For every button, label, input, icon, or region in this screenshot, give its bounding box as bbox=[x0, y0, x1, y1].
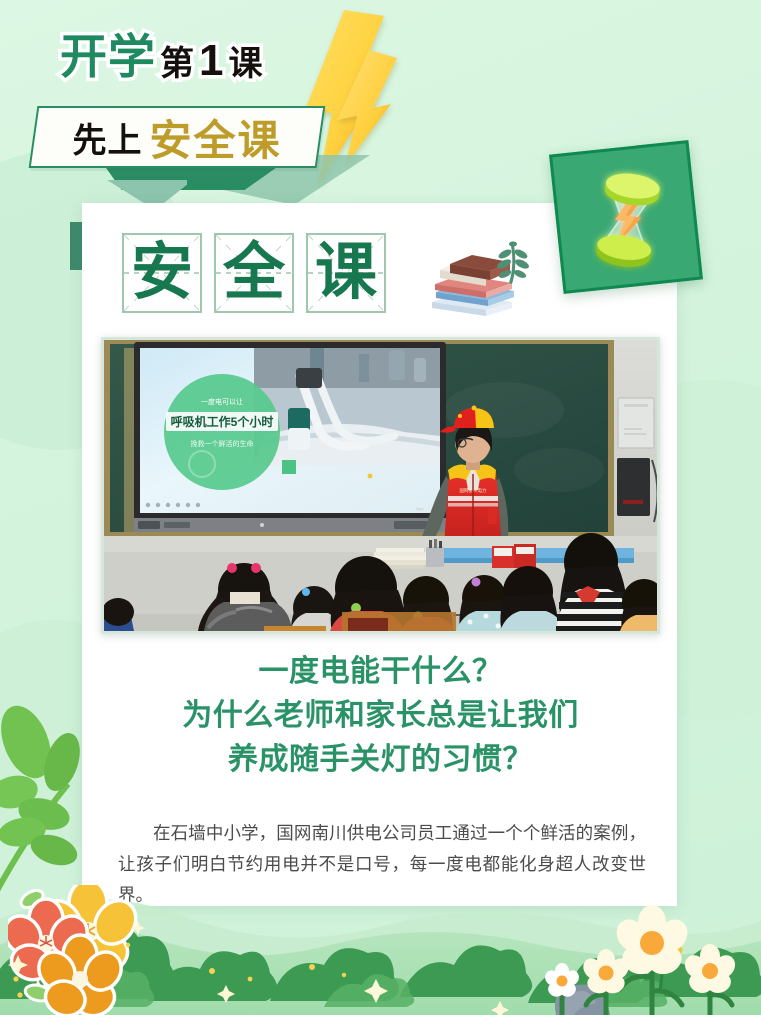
slide-line3: 挽救一个鲜活的生命 bbox=[191, 439, 254, 448]
classroom-photo: 一度电可以让 呼吸机工作5个小时 挽救一个鲜活的生命 logo bbox=[101, 337, 660, 634]
poster-root: 开学 第 1 课 先上 安全课 安 全 课 bbox=[0, 0, 761, 1015]
flower-cluster-decor bbox=[8, 885, 198, 1015]
tianzige-char: 课 bbox=[315, 242, 377, 304]
headline-line-1: 一度电能干什么？ bbox=[101, 650, 660, 694]
header-title-prefix: 第 bbox=[160, 47, 195, 81]
stack-of-books-icon bbox=[428, 240, 532, 320]
header-banner: 先上 安全课 bbox=[29, 106, 326, 168]
header-title-suffix: 课 bbox=[228, 47, 263, 81]
classroom-photo-illustration: 一度电可以让 呼吸机工作5个小时 挽救一个鲜活的生命 logo bbox=[104, 340, 657, 631]
white-daisies-decor bbox=[540, 895, 761, 1015]
leaf-branch-icon bbox=[0, 700, 92, 900]
header-title-green: 开学 bbox=[60, 33, 156, 80]
header-title-line1: 开学 第 1 课 bbox=[60, 33, 263, 81]
section-title-grid: 安 全 课 bbox=[122, 233, 386, 313]
headline: 一度电能干什么？ 为什么老师和家长总是让我们 养成随手关灯的习惯？ bbox=[101, 650, 660, 781]
tianzige-cell: 课 bbox=[306, 233, 386, 313]
banner-text-gold: 安全课 bbox=[149, 107, 281, 168]
lightning-bolt-icon bbox=[333, 48, 399, 168]
tianzige-cell: 安 bbox=[122, 233, 202, 313]
slide-line1: 一度电可以让 bbox=[201, 397, 243, 406]
svg-text:logo: logo bbox=[416, 506, 424, 511]
headline-line-3: 养成随手关灯的习惯？ bbox=[101, 738, 660, 782]
tianzige-char: 全 bbox=[223, 242, 285, 304]
headline-line-2: 为什么老师和家长总是让我们 bbox=[101, 694, 660, 738]
banner-text-black: 先上 bbox=[72, 113, 142, 162]
header-title-number: 1 bbox=[199, 39, 224, 83]
slide-line2: 呼吸机工作5个小时 bbox=[171, 414, 274, 429]
tianzige-char: 安 bbox=[131, 242, 193, 304]
tianzige-cell: 全 bbox=[214, 233, 294, 313]
hourglass-with-lightning-icon bbox=[568, 158, 689, 279]
hourglass-badge bbox=[549, 140, 703, 294]
